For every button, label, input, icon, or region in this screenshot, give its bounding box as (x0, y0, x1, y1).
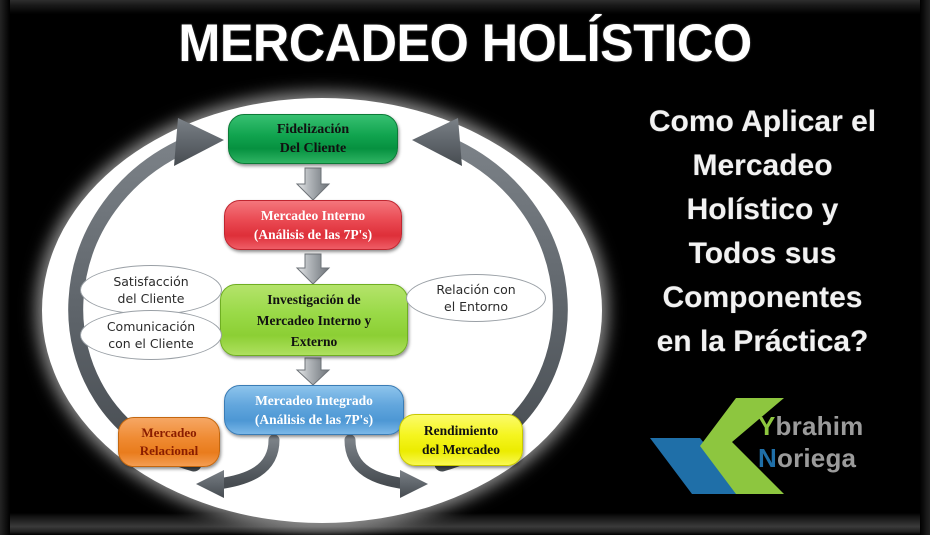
node-fidelizacion-del-cliente[interactable]: Fidelización Del Cliente (228, 114, 398, 164)
logo-wordmark: Ybrahim Noriega (758, 410, 863, 474)
node-mercadeo-relacional[interactable]: Mercadeo Relacional (118, 417, 220, 467)
satellite-relacion-con-el-entorno[interactable]: Relación con el Entorno (406, 274, 546, 322)
brand-logo[interactable]: Ybrahim Noriega (648, 396, 926, 496)
node-mercadeo-interno[interactable]: Mercadeo Interno (Análisis de las 7P's) (224, 200, 402, 250)
node-line-2: Relacional (140, 442, 199, 460)
arrow-down-fidelizacion-to-interno (297, 168, 329, 200)
page-title: MERCADEO HOLÍSTICO (23, 14, 907, 74)
poster-canvas: MERCADEO HOLÍSTICO Como Aplicar el Merca… (0, 0, 930, 535)
arrow-down-investigacion-to-integrado (297, 358, 329, 385)
node-line-2: (Análisis de las 7P's) (255, 410, 373, 429)
logo-name-first: Ybrahim (758, 410, 863, 442)
headline-line-2: Mercadeo (600, 144, 925, 188)
satellite-satisfaccion-del-cliente[interactable]: Satisfacción del Cliente (80, 265, 222, 315)
node-line-1: Fidelización (277, 120, 349, 139)
node-line-1: Mercadeo (141, 424, 196, 442)
node-rendimiento-del-mercadeo[interactable]: Rendimiento del Mercadeo (399, 414, 523, 466)
frame-bevel-left (0, 0, 10, 535)
node-investigacion-de-mercadeo[interactable]: Investigación de Mercadeo Interno y Exte… (220, 284, 408, 356)
logo-name-last: Noriega (758, 442, 863, 474)
satellite-line-1: Relación con (436, 281, 515, 298)
holistic-marketing-diagram: Fidelización Del Cliente Mercadeo Intern… (28, 88, 608, 528)
headline-line-6: en la Práctica? (600, 320, 925, 364)
headline-line-5: Componentes (600, 276, 925, 320)
satellite-line-2: el Entorno (444, 298, 508, 315)
satellite-line-1: Satisfacción (113, 273, 188, 290)
satellite-line-2: del Cliente (118, 290, 185, 307)
headline-line-1: Como Aplicar el (600, 100, 925, 144)
arrow-down-interno-to-investigacion (297, 254, 329, 284)
satellite-line-2: con el Cliente (108, 335, 193, 352)
node-line-1: Rendimiento (424, 421, 498, 440)
headline-question: Como Aplicar el Mercadeo Holístico y Tod… (600, 100, 925, 364)
node-line-2: (Análisis de las 7P's) (254, 225, 372, 244)
node-mercadeo-integrado[interactable]: Mercadeo Integrado (Análisis de las 7P's… (224, 385, 404, 435)
satellite-line-1: Comunicación (107, 318, 195, 335)
node-line-2: Del Cliente (280, 139, 346, 158)
satellite-comunicacion-con-el-cliente[interactable]: Comunicación con el Cliente (80, 310, 222, 360)
headline-line-3: Holístico y (600, 188, 925, 232)
node-line-3: Externo (291, 331, 338, 352)
node-line-2: del Mercadeo (422, 440, 500, 459)
headline-line-4: Todos sus (600, 232, 925, 276)
node-line-1: Mercadeo Interno (261, 206, 365, 225)
node-line-1: Mercadeo Integrado (255, 391, 373, 410)
node-line-2: Mercadeo Interno y (257, 310, 371, 331)
node-line-1: Investigación de (267, 289, 360, 310)
frame-bevel-top (0, 0, 930, 14)
